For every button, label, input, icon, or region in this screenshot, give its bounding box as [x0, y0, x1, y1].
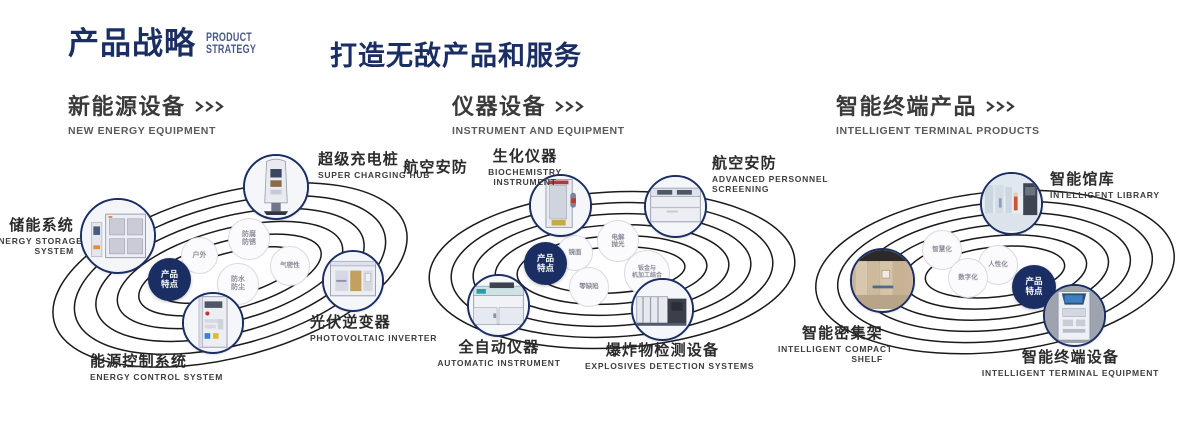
- cluster-intelligent-terminal: 智慧化 人性化 数字化 产品 特点: [800, 150, 1200, 400]
- product-label-explosives-detection: 爆炸物检测设备 EXPLOSIVES DETECTION SYSTEMS: [585, 343, 740, 371]
- cluster-new-energy: 户外 防腐 防锈 防水 防尘 气密性 产品 特点: [30, 150, 430, 400]
- product-photo-energy-storage[interactable]: [80, 198, 156, 274]
- product-label-aviation-security-left: 航空安防: [398, 160, 468, 176]
- core-bubble-product-features: 产品 特点: [148, 258, 191, 301]
- page-title-en-line2: STRATEGY: [206, 45, 256, 57]
- cluster-instrument: 镜面 电解 抛光 钣金与 机加工结合 零缺陷 产品 特点 航空安防: [412, 150, 812, 400]
- tagline: 打造无敌产品和服务: [330, 34, 582, 73]
- product-photo-charging-hub[interactable]: [243, 154, 309, 220]
- page-title-en: PRODUCT STRATEGY: [206, 33, 256, 56]
- section-heading-cn: 智能终端产品: [836, 96, 977, 118]
- section-heading-en: NEW ENERGY EQUIPMENT: [68, 125, 224, 137]
- product-label-biochemistry: 生化仪器 BIOCHEMISTRY INSTRUMENT: [460, 149, 590, 188]
- product-photo-terminal-equipment[interactable]: [1043, 284, 1106, 347]
- section-heading-intelligent-terminal: 智能终端产品 INTELLIGENT TERMINAL PRODUCTS: [836, 96, 1040, 137]
- product-photo-energy-control[interactable]: [182, 292, 244, 354]
- feature-bubble: 零缺陷: [569, 267, 609, 307]
- feature-bubble: 数字化: [948, 258, 988, 298]
- section-heading-en: INSTRUMENT AND EQUIPMENT: [452, 125, 625, 137]
- product-label-compact-shelf: 智能密集架 INTELLIGENT COMPACT SHELF: [778, 326, 883, 365]
- feature-bubble: 防腐 防锈: [228, 218, 270, 260]
- product-label-energy-control: 能源控制系统 ENERGY CONTROL SYSTEM: [90, 354, 223, 382]
- page-title-en-line1: PRODUCT: [206, 33, 256, 45]
- product-strategy-infographic: 产品战略 PRODUCT STRATEGY 打造无敌产品和服务 新能源设备 NE…: [0, 0, 1200, 422]
- section-heading-instrument: 仪器设备 INSTRUMENT AND EQUIPMENT: [452, 96, 625, 137]
- product-photo-intelligent-library[interactable]: [980, 172, 1043, 235]
- product-photo-pv-inverter[interactable]: [322, 250, 384, 312]
- product-photo-compact-shelf[interactable]: [850, 248, 915, 313]
- product-photo-explosives-detection[interactable]: [631, 278, 694, 341]
- product-label-energy-storage: 储能系统 ENERGY STORAGE SYSTEM: [0, 218, 74, 257]
- product-label-terminal-equipment: 智能终端设备 INTELLIGENT TERMINAL EQUIPMENT: [968, 350, 1173, 378]
- page-title-cn: 产品战略: [68, 28, 196, 59]
- core-bubble-product-features: 产品 特点: [524, 242, 567, 285]
- chevrons-right-icon: [555, 101, 584, 112]
- chevrons-right-icon: [195, 101, 224, 112]
- section-heading-cn: 仪器设备: [452, 96, 546, 118]
- product-label-intelligent-library: 智能馆库 INTELLIGENT LIBRARY: [1050, 172, 1160, 200]
- section-heading-cn: 新能源设备: [68, 96, 186, 118]
- product-label-automatic-instrument: 全自动仪器 AUTOMATIC INSTRUMENT: [434, 340, 564, 368]
- chevrons-right-icon: [986, 101, 1015, 112]
- feature-bubble: 气密性: [270, 246, 310, 286]
- section-heading-new-energy: 新能源设备 NEW ENERGY EQUIPMENT: [68, 96, 224, 137]
- product-photo-personnel-screening[interactable]: [644, 175, 707, 238]
- page-title: 产品战略 PRODUCT STRATEGY: [68, 28, 270, 59]
- product-photo-automatic-instrument[interactable]: [467, 274, 530, 337]
- section-heading-en: INTELLIGENT TERMINAL PRODUCTS: [836, 125, 1040, 137]
